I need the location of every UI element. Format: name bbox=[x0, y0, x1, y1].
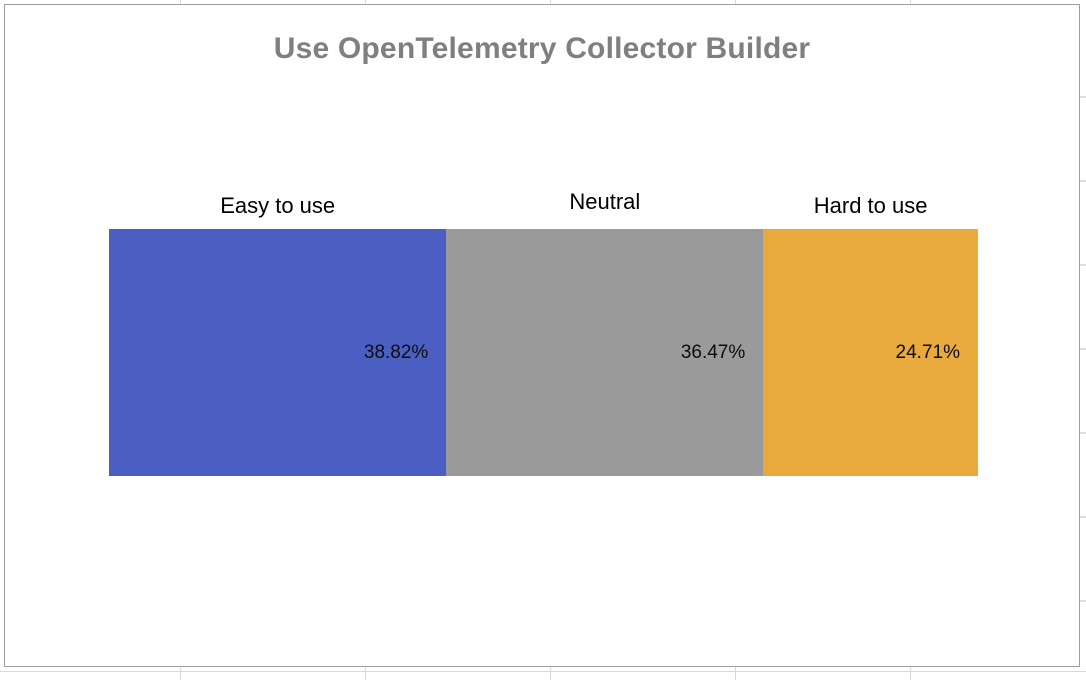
chart-container[interactable]: Use OpenTelemetry Collector Builder Easy… bbox=[4, 4, 1080, 667]
category-label-row: Easy to use Neutral Hard to use bbox=[109, 183, 978, 217]
bar-value-neutral: 36.47% bbox=[681, 342, 763, 364]
chart-title: Use OpenTelemetry Collector Builder bbox=[5, 32, 1079, 66]
bar-segment-hard-to-use[interactable]: 24.71% bbox=[763, 229, 978, 476]
category-label-easy-to-use: Easy to use bbox=[109, 183, 446, 217]
bar-value-hard-to-use: 24.71% bbox=[896, 342, 978, 364]
bar-segment-easy-to-use[interactable]: 38.82% bbox=[109, 229, 446, 476]
category-label-hard-to-use: Hard to use bbox=[763, 183, 978, 217]
stacked-bar: 38.82% 36.47% 24.71% bbox=[109, 229, 978, 476]
bar-value-easy-to-use: 38.82% bbox=[364, 342, 446, 364]
spreadsheet-row-gridline bbox=[0, 671, 1086, 672]
plot-area: Easy to use Neutral Hard to use 38.82% 3… bbox=[109, 225, 978, 475]
category-label-neutral: Neutral bbox=[446, 183, 763, 217]
bar-segment-neutral[interactable]: 36.47% bbox=[446, 229, 763, 476]
